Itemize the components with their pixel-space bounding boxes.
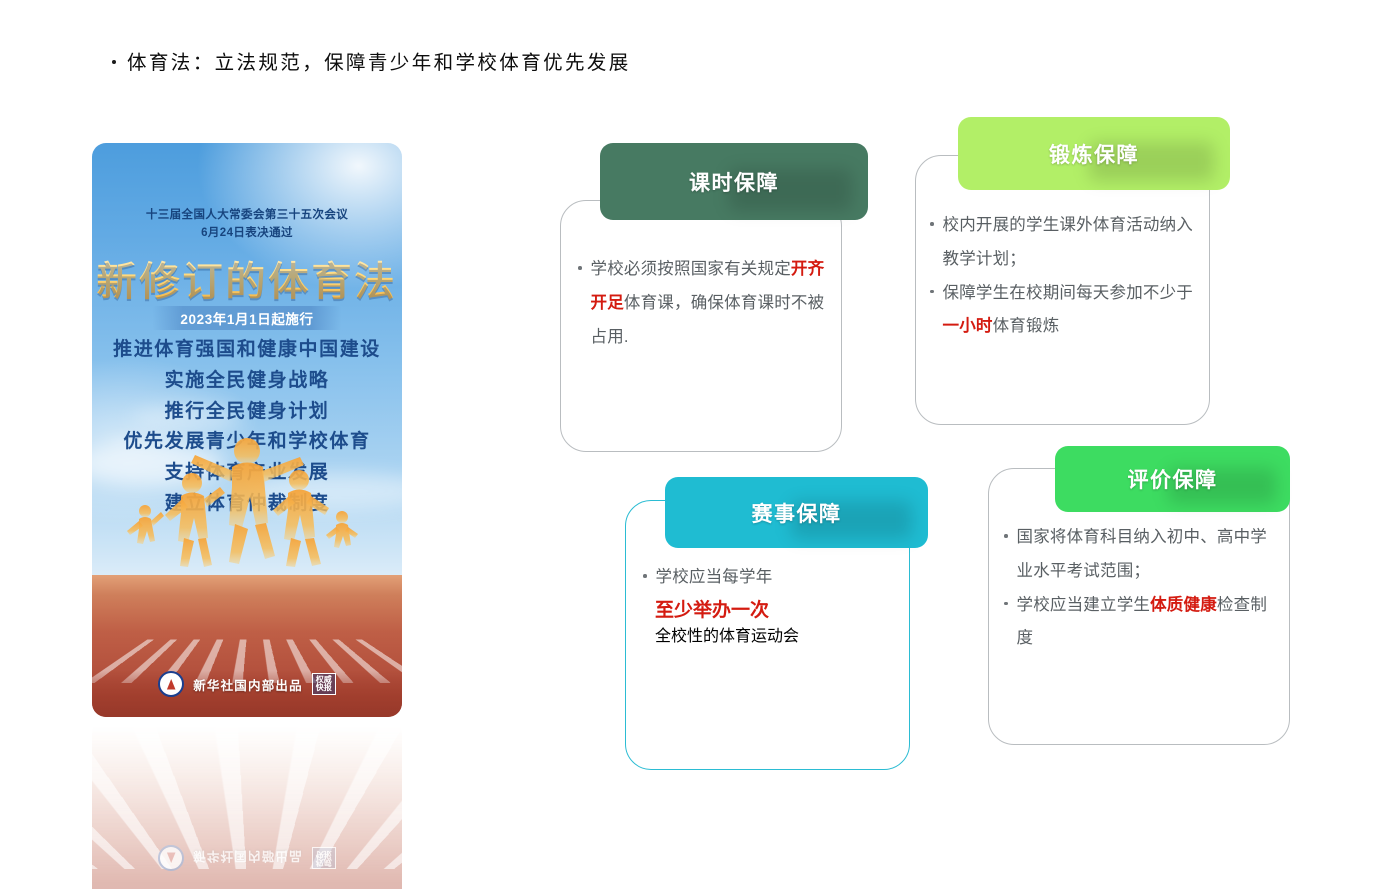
card-banner-label: 赛事保障 xyxy=(752,498,842,528)
bullet-segment: 体育锻炼 xyxy=(993,317,1060,335)
card-body-exercise: 校内开展的学生课外体育活动纳入教学计划； 保障学生在校期间每天参加不少于一小时体… xyxy=(930,209,1198,344)
card-bullet-text: 校内开展的学生课外体育活动纳入教学计划； xyxy=(943,209,1199,277)
card-banner-label: 课时保障 xyxy=(689,167,779,197)
bullet-segment-highlight: 体质健康 xyxy=(1150,596,1217,614)
card-bullet: 学校应当建立学生体质健康检查制度 xyxy=(1004,589,1282,657)
bullet-segment: 保障学生在校期间每天参加不少于 xyxy=(943,284,1194,302)
running-figures-illustration xyxy=(92,407,402,597)
bullet-segment: 学校应当建立学生 xyxy=(1017,596,1151,614)
card-banner-label: 锻炼保障 xyxy=(1049,139,1139,169)
xinhua-logo-icon-reflection xyxy=(158,845,184,871)
card-bullet-text: 学校必须按照国家有关规定开齐开足体育课，确保体育课时不被占用. xyxy=(591,253,829,354)
xinhua-logo-icon xyxy=(158,671,184,697)
card-emphasis-text: 至少举办一次 xyxy=(655,595,893,622)
card-body-competition: 学校应当每学年 至少举办一次 全校性的体育运动会 xyxy=(643,561,893,646)
poster-header-line-2: 6月24日表决通过 xyxy=(92,225,402,243)
card-banner-competition[interactable]: 赛事保障 xyxy=(665,477,928,548)
card-bullet-text: 学校应当每学年 xyxy=(656,561,773,595)
slide-bullet-line: 体育法：立法规范，保障青少年和学校体育优先发展 xyxy=(112,46,631,75)
bullet-segment: 学校必须按照国家有关规定 xyxy=(591,260,791,278)
card-banner-exercise[interactable]: 锻炼保障 xyxy=(958,117,1230,190)
card-bullet-text: 学校应当建立学生体质健康检查制度 xyxy=(1017,589,1283,657)
card-tail-text: 全校性的体育运动会 xyxy=(655,622,893,646)
bullet-segment-highlight: 一小时 xyxy=(943,317,993,335)
bullet-dot-icon xyxy=(112,60,116,64)
card-bullet: 国家将体育科目纳入初中、高中学业水平考试范围； xyxy=(1004,521,1282,589)
authority-badge-reflection-line-1: 权威 xyxy=(316,858,332,867)
card-banner-class-hours[interactable]: 课时保障 xyxy=(600,143,868,220)
poster-header-lines: 十三届全国人大常委会第三十五次会议 6月24日表决通过 xyxy=(92,207,402,243)
poster-figure: 十三届全国人大常委会第三十五次会议 6月24日表决通过 新修订的体育法 2023… xyxy=(92,143,402,743)
card-banner-evaluation[interactable]: 评价保障 xyxy=(1055,446,1290,512)
authority-badge-line-2: 快报 xyxy=(316,683,332,692)
authority-badge-reflection-line-2: 快报 xyxy=(316,850,332,859)
slide-bullet-text: 体育法：立法规范，保障青少年和学校体育优先发展 xyxy=(127,46,631,75)
bullet-dot-icon xyxy=(643,574,647,578)
bullet-dot-icon xyxy=(1004,602,1008,606)
poster-header-line-1: 十三届全国人大常委会第三十五次会议 xyxy=(92,207,402,225)
poster-credit: 新华社国内部出品 权威 快报 xyxy=(92,671,402,697)
card-body-evaluation: 国家将体育科目纳入初中、高中学业水平考试范围； 学校应当建立学生体质健康检查制度 xyxy=(1004,521,1282,656)
card-bullet: 学校应当每学年 xyxy=(643,561,893,595)
card-bullet: 校内开展的学生课外体育活动纳入教学计划； xyxy=(930,209,1198,277)
authority-badge: 权威 快报 xyxy=(312,673,336,696)
bullet-dot-icon xyxy=(1004,534,1008,538)
bullet-segment: 体育课，确保体育课时不被占用. xyxy=(591,294,825,346)
poster-image: 十三届全国人大常委会第三十五次会议 6月24日表决通过 新修订的体育法 2023… xyxy=(92,143,402,717)
card-bullet: 保障学生在校期间每天参加不少于一小时体育锻炼 xyxy=(930,277,1198,345)
bullet-dot-icon xyxy=(930,222,934,226)
card-banner-label: 评价保障 xyxy=(1128,464,1218,494)
poster-point: 推进体育强国和健康中国建设 xyxy=(92,335,402,366)
card-bullet-text: 国家将体育科目纳入初中、高中学业水平考试范围； xyxy=(1017,521,1283,589)
bullet-dot-icon xyxy=(578,266,582,270)
card-bullet: 学校必须按照国家有关规定开齐开足体育课，确保体育课时不被占用. xyxy=(578,253,828,354)
poster-point: 实施全民健身战略 xyxy=(92,366,402,397)
poster-reflection: 新华社国内部出品 权威 快报 xyxy=(92,719,402,889)
reflection-credit: 新华社国内部出品 权威 快报 xyxy=(92,845,402,871)
card-body-class-hours: 学校必须按照国家有关规定开齐开足体育课，确保体育课时不被占用. xyxy=(578,253,828,354)
poster-effective-date: 2023年1月1日起施行 xyxy=(152,306,341,330)
poster-credit-text: 新华社国内部出品 xyxy=(193,675,303,694)
authority-badge-reflection: 权威 快报 xyxy=(312,847,336,870)
reflection-credit-text: 新华社国内部出品 xyxy=(193,849,303,868)
bullet-dot-icon xyxy=(930,290,934,294)
poster-title: 新修订的体育法 xyxy=(92,249,402,307)
card-bullet-text: 保障学生在校期间每天参加不少于一小时体育锻炼 xyxy=(943,277,1199,345)
